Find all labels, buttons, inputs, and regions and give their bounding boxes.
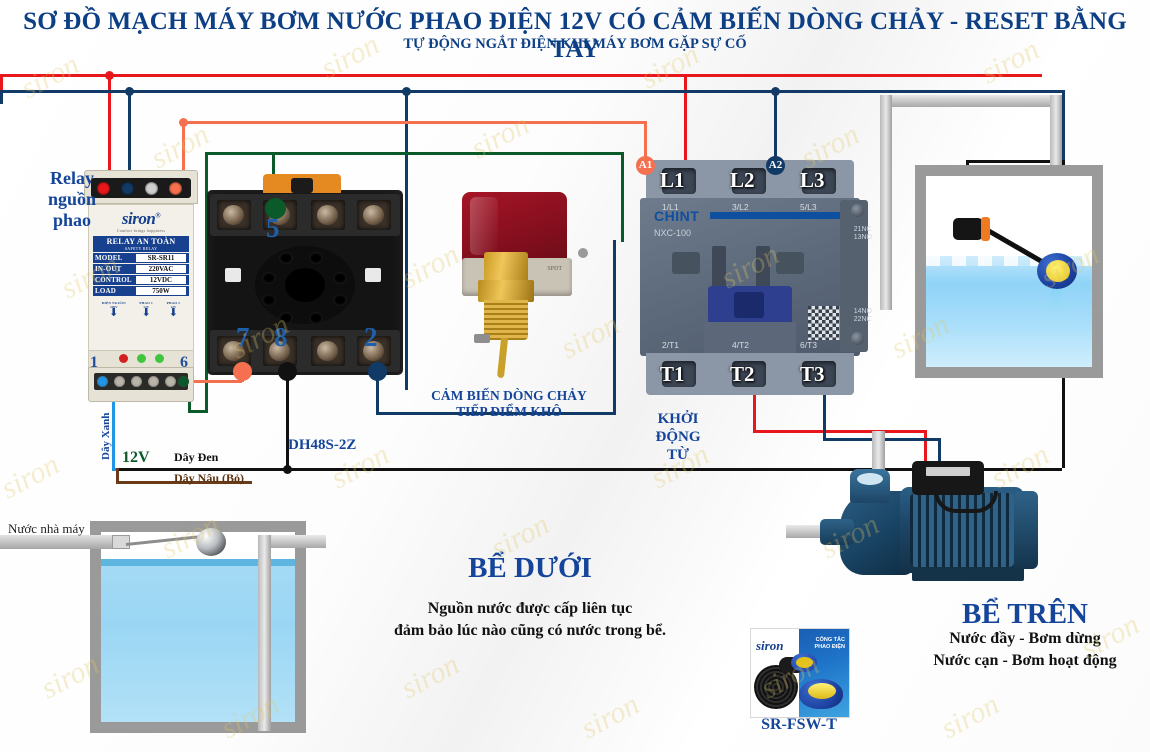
product-box-headline: CÔNG TẮC PHAO ĐIỆN (801, 637, 845, 651)
wire-blue-bus-top (0, 90, 1062, 93)
wire-green-to-flow-sensor (621, 152, 624, 242)
relay-spec-value: 750W (135, 286, 187, 296)
upper-tank-title: BỂ TRÊN (900, 598, 1150, 631)
contactor-model: NXC-100 (654, 228, 691, 238)
contactor-label-l2: L2 (730, 168, 755, 193)
contactor-panel-left (672, 252, 700, 274)
relay-panel-subtitle: SAFETY RELAY (93, 246, 189, 251)
flow-sensor-terminal-lug[interactable] (578, 248, 588, 258)
product-float-switch-large (799, 679, 843, 709)
relay-spec-value: 220VAC (135, 264, 187, 274)
relay-spec-row: MODEL SR-SR11 (93, 253, 189, 263)
relay-spec-value: SR-SR11 (135, 253, 187, 263)
relay-terminal-5[interactable] (165, 376, 176, 387)
contactor-body: 1/L1 3/L2 5/L3 CHINT NXC-100 2/T1 4/T2 6… (640, 198, 860, 356)
socket-screw-bot-3[interactable] (311, 336, 345, 366)
wire-green-seg-h1 (188, 410, 208, 413)
socket-pin-label-2: 2 (364, 322, 378, 353)
wire-label-day-den: Dây Đen (174, 450, 218, 465)
flow-sensor-caption-line1: CẢM BIẾN DÒNG CHẢY (414, 388, 604, 404)
flow-sensor-marking: SPDT (547, 266, 562, 272)
socket-mount-hole-left (225, 268, 241, 282)
pump-junction-box[interactable] (912, 461, 984, 495)
product-box-headline-line2: PHAO ĐIỆN (801, 644, 845, 651)
product-box-headline-line1: CÔNG TẮC (801, 637, 845, 644)
float-switch-product-box: CÔNG TẮC PHAO ĐIỆN siron (750, 628, 850, 718)
junction-blue-2 (402, 87, 411, 96)
contactor-arc-tabs (712, 246, 788, 288)
wire-red-left-stub (0, 74, 3, 90)
water-pump[interactable] (828, 455, 1043, 595)
arrow-down-icon: ⬇ (102, 309, 126, 318)
wire-green-seg-h2 (205, 152, 624, 155)
socket-retaining-clip (263, 174, 341, 193)
city-water-inlet-pipe (0, 535, 120, 549)
contactor-tab-right (756, 246, 770, 288)
relay-spec-value: 12VDC (135, 275, 187, 285)
relay-terminal-label-6: 6 (180, 354, 188, 372)
magnetic-contactor[interactable]: 1/L1 3/L2 5/L3 CHINT NXC-100 2/T1 4/T2 6… (640, 160, 860, 395)
pump-discharge-neck (850, 469, 890, 503)
qr-code-icon (808, 306, 842, 340)
watermark-text: siron (396, 648, 465, 706)
socket-hole (333, 272, 347, 284)
relay-spec-row: LOAD 750W (93, 286, 189, 296)
lower-water-tank (90, 521, 306, 733)
flow-sensor-bracket (474, 334, 490, 343)
socket-pin5-connector (265, 198, 286, 219)
contactor-caption-line1: KHỞI (648, 410, 708, 428)
lower-tank-title: BỂ DƯỚI (400, 552, 660, 585)
relay-spec-key: MODEL (95, 254, 135, 262)
relay-spec-table: MODEL SR-SR11 IN-OUT 220VAC CONTROL 12VD… (93, 253, 189, 296)
socket-screw-top-1[interactable] (217, 200, 251, 230)
wire-blue-to-relay-8 (128, 90, 131, 178)
flow-sensor-caption: CẢM BIẾN DÒNG CHẢY TIẾP ĐIỂM KHÔ (414, 388, 604, 420)
contactor-mark-6t3: 6/T3 (800, 340, 817, 350)
relay-bottom-terminal-strip (94, 373, 188, 390)
led-power-red (119, 354, 128, 363)
socket-hole (309, 252, 323, 264)
lower-tank-note-line2: đảm bảo lúc nào cũng có nước trong bể. (330, 620, 730, 642)
relay-terminal-10[interactable] (169, 182, 182, 195)
socket-hole (333, 294, 347, 306)
socket-pin8-connector (278, 362, 297, 381)
relay-brand-mark: ® (155, 211, 160, 219)
contactor-actuator[interactable] (708, 286, 792, 324)
socket-pin-hub (255, 246, 355, 324)
relay-terminal-label-1: 1 (90, 354, 98, 372)
contactor-label-t3: T3 (800, 362, 825, 387)
junction-blue-3 (771, 87, 780, 96)
contactor-coil-a1-badge: A1 (636, 156, 655, 175)
arrow-down-icon: ⬇ (167, 309, 181, 318)
contactor-mark-2t1: 2/T1 (662, 340, 679, 350)
wire-blue-seg-v1 (613, 240, 616, 412)
junction-blue-1 (125, 87, 134, 96)
relay-terminal-4[interactable] (148, 376, 159, 387)
pump-inlet-flange (820, 519, 854, 545)
relay-arrow-legend: ĐIỆN NGUỒN 220V ⬇ PHAO 1 12V ⬇ PHAO 2 12… (95, 301, 187, 318)
socket-hole (262, 294, 276, 306)
led-phao1-green (137, 354, 146, 363)
arrow-down-icon: ⬇ (139, 309, 153, 318)
watermark-text: siron (466, 108, 535, 166)
contactor-aux-label-top: 21NC 13NO (854, 226, 872, 242)
contactor-label-t2: T2 (730, 362, 755, 387)
upper-supply-pipe-horizontal (880, 95, 1062, 107)
contactor-caption-line3: TỪ (648, 446, 708, 464)
diagram-canvas: SƠ ĐỒ MẠCH MÁY BƠM NƯỚC PHAO ĐIỆN 12V CÓ… (0, 0, 1150, 752)
contactor-label-l3: L3 (800, 168, 825, 193)
relay-terminal-6[interactable] (178, 376, 189, 387)
contactor-coil-a2-badge: A2 (766, 156, 785, 175)
relay-bottom-housing (88, 367, 194, 402)
upper-supply-pipe-riser (880, 95, 892, 310)
wire-label-12v: 12V (122, 449, 150, 467)
socket-screw-top-3[interactable] (311, 200, 345, 230)
product-box-brand: siron (756, 638, 783, 654)
pump-base-foot (912, 567, 1024, 581)
relay-terminal-8[interactable] (121, 182, 134, 195)
contactor-front-cover (704, 322, 796, 354)
contactor-label-l1: L1 (660, 168, 685, 193)
contactor-caption: KHỞI ĐỘNG TỪ (648, 410, 708, 464)
socket-hole (309, 312, 323, 324)
upper-float-ball[interactable]: siron (1037, 253, 1077, 289)
page-subtitle: TỰ ĐỘNG NGẮT ĐIỆN KHI MÁY BƠM GẶP SỰ CỐ (0, 36, 1150, 53)
wire-black-from-pin8 (286, 370, 289, 470)
junction-black-1 (283, 465, 292, 474)
product-float-switch-blue (791, 653, 817, 672)
wire-label-day-nau: Dây Nâu (Bỏ) (174, 471, 244, 486)
wire-blue-socket-loop-left (405, 90, 408, 390)
contactor-aux-label-bottom: 14NO 22NC (854, 308, 872, 324)
upper-float-switch-body[interactable] (953, 218, 983, 240)
wire-red-t2-to-pump (753, 430, 927, 433)
wire-blue-left-stub (0, 90, 3, 104)
socket-model-label: DH48S-2Z (288, 437, 356, 454)
relay-panel-title: RELAY AN TOÀN (93, 237, 189, 246)
wire-brown-corner (116, 468, 119, 482)
relay-arrow-item: PHAO 2 12V ⬇ (167, 301, 181, 318)
led-phao2-green (155, 354, 164, 363)
upper-tank-note-line1: Nước đầy - Bơm dừng (895, 628, 1150, 650)
relay-arrow-item: PHAO 1 12V ⬇ (139, 301, 153, 318)
contactor-aux-block[interactable]: 21NC 13NO 14NO 22NC (840, 200, 868, 352)
socket-mount-hole-right (365, 268, 381, 282)
contactor-brand: CHINT (654, 208, 699, 224)
wire-red-bus-top (0, 74, 1042, 77)
relay-spec-key: IN-OUT (95, 265, 135, 273)
socket-screw-top-4[interactable] (357, 200, 391, 230)
flow-switch-sensor[interactable]: SPDT (452, 192, 592, 382)
watermark-text: siron (936, 688, 1005, 746)
contactor-mark-4t2: 4/T2 (732, 340, 749, 350)
relay-brand-text: siron (122, 209, 155, 228)
relay-module-caption: Relay nguồn phao (36, 168, 108, 231)
upper-tank-note-line2: Nước cạn - Bơm hoạt động (895, 650, 1150, 672)
flow-sensor-hex-nut (478, 280, 534, 302)
junction-salmon-1 (179, 118, 188, 127)
socket-pin7-connector (233, 362, 252, 381)
socket-hole (279, 252, 293, 264)
relay-led-row (88, 351, 194, 367)
contactor-aux-screw-bottom[interactable] (851, 332, 864, 345)
socket-hole (262, 272, 276, 284)
relay-terminal-3[interactable] (131, 376, 142, 387)
relay-panel-title-block: RELAY AN TOÀN SAFETY RELAY (93, 236, 189, 252)
relay-spec-key: CONTROL (95, 276, 135, 284)
watermark-text: siron (0, 448, 65, 506)
float-ball-brand: siron (1050, 266, 1063, 272)
wire-label-day-xanh: Dây Xanh (100, 413, 112, 460)
watermark-text: siron (576, 688, 645, 746)
relay-terminal-1[interactable] (97, 376, 108, 387)
contactor-caption-line2: ĐỘNG (648, 428, 708, 446)
city-water-label: Nước nhà máy (8, 521, 85, 537)
relay-spec-row: IN-OUT 220VAC (93, 264, 189, 274)
flow-sensor-thread (484, 300, 528, 340)
contactor-brand-bar (710, 212, 850, 219)
relay-terminal-9[interactable] (145, 182, 158, 195)
flow-sensor-paddle (497, 338, 508, 379)
lower-tank-note-line1: Nguồn nước được cấp liên tục (330, 598, 730, 620)
lower-tank-note: Nguồn nước được cấp liên tục đảm bảo lúc… (330, 598, 730, 642)
contactor-mark-3l2: 3/L2 (732, 202, 749, 212)
relay-spec-row: CONTROL 12VDC (93, 275, 189, 285)
contactor-mark-5l3: 5/L3 (800, 202, 817, 212)
upper-float-switch-collar (981, 217, 990, 241)
relay-terminal-2[interactable] (114, 376, 125, 387)
product-model-label: SR-FSW-T (750, 716, 848, 734)
wire-lightblue-from-relay1 (112, 392, 115, 470)
contactor-label-t1: T1 (660, 362, 685, 387)
relay-arrow-item: ĐIỆN NGUỒN 220V ⬇ (102, 301, 126, 318)
contactor-tab-left (712, 246, 726, 288)
junction-red-1 (105, 71, 114, 80)
ball-float (196, 528, 226, 556)
upper-tank-note: Nước đầy - Bơm dừng Nước cạn - Bơm hoạt … (895, 628, 1150, 672)
pump-motor-endcap (1014, 491, 1038, 569)
socket-pin2-connector (368, 362, 387, 381)
socket-pin-label-8: 8 (274, 322, 288, 353)
socket-pin-label-7: 7 (236, 322, 250, 353)
wire-salmon-bus (182, 121, 644, 124)
relay-spec-key: LOAD (95, 287, 135, 295)
flow-sensor-caption-line2: TIẾP ĐIỂM KHÔ (414, 404, 604, 420)
lower-tank-suction-pipe (258, 535, 271, 731)
relay-caption-text: Relay nguồn phao (48, 168, 96, 230)
contactor-aux-screw-top[interactable] (851, 204, 864, 217)
